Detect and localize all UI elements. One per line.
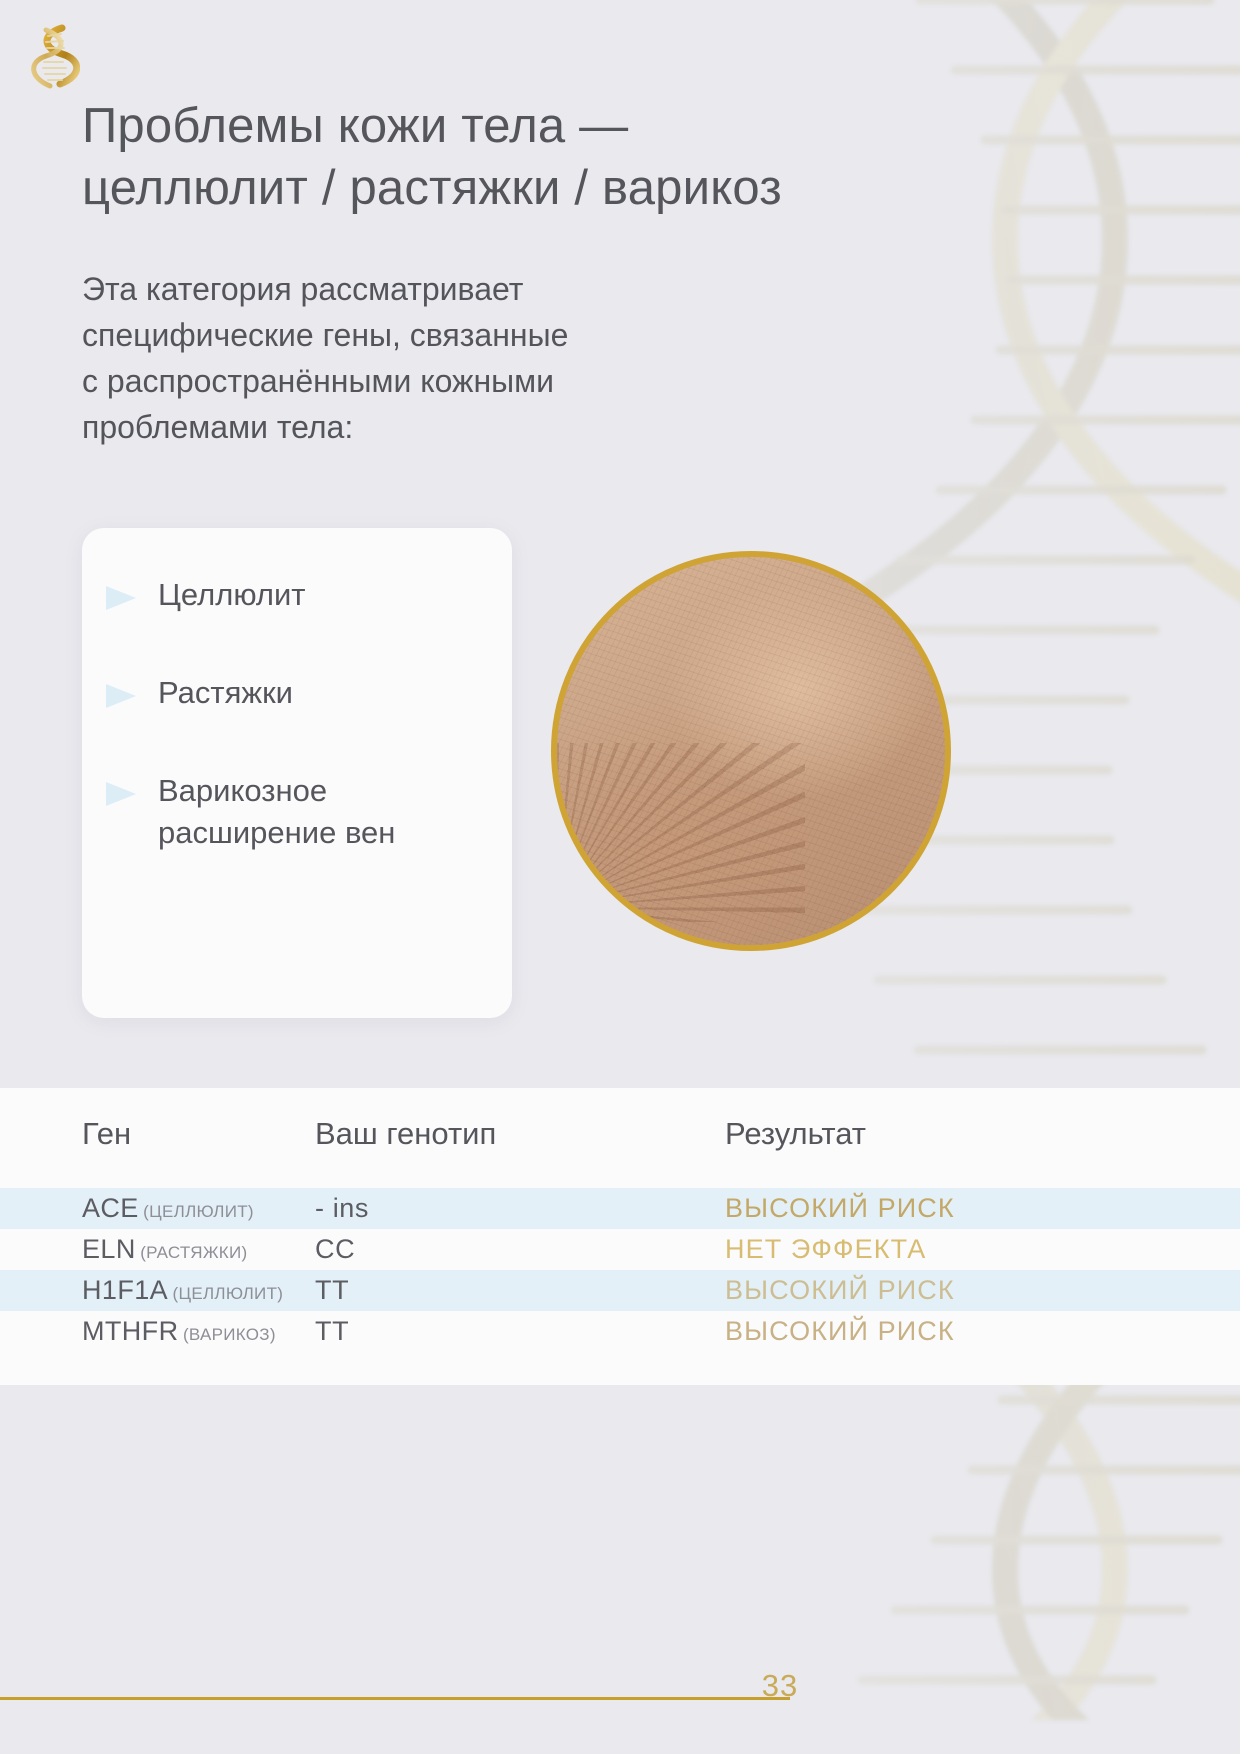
gene-note: (ВАРИКОЗ) xyxy=(183,1325,276,1344)
list-item: Варикозное расширение вен xyxy=(104,770,494,854)
cell-result: ВЫСОКИЙ РИСК xyxy=(725,1193,1240,1224)
gene-name: H1F1A xyxy=(82,1275,168,1305)
intro-line-2: специфические гены, связанные xyxy=(82,312,802,358)
page-number: 33 xyxy=(735,1668,825,1704)
table-row: ACE (ЦЕЛЛЮЛИТ) - ins ВЫСОКИЙ РИСК xyxy=(0,1188,1240,1229)
cell-result: ВЫСОКИЙ РИСК xyxy=(725,1316,1240,1347)
cell-gene: MTHFR (ВАРИКОЗ) xyxy=(0,1316,315,1347)
table-bottom-spacer xyxy=(0,1352,1240,1385)
cell-gene: H1F1A (ЦЕЛЛЮЛИТ) xyxy=(0,1275,315,1306)
cell-genotype: - ins xyxy=(315,1193,725,1224)
triangle-right-icon xyxy=(104,780,138,808)
gene-name: MTHFR xyxy=(82,1316,178,1346)
page-title-line-2: целлюлит / растяжки / варикоз xyxy=(82,158,962,220)
cell-result: НЕТ ЭФФЕКТА xyxy=(725,1234,1240,1265)
intro-line-3: с распространёнными кожными xyxy=(82,358,802,404)
table-top-spacer xyxy=(0,1180,1240,1188)
cell-result: ВЫСОКИЙ РИСК xyxy=(725,1275,1240,1306)
gene-note: (РАСТЯЖКИ) xyxy=(140,1243,247,1262)
report-page: Проблемы кожи тела — целлюлит / растяжки… xyxy=(0,0,1240,1754)
gene-results-table: Ген Ваш генотип Результат ACE (ЦЕЛЛЮЛИТ)… xyxy=(0,1088,1240,1385)
footer-divider xyxy=(0,1697,790,1700)
intro-paragraph: Эта категория рассматривает специфически… xyxy=(82,266,802,450)
cell-genotype: TT xyxy=(315,1316,725,1347)
list-item: Растяжки xyxy=(104,672,494,714)
triangle-right-icon xyxy=(104,584,138,612)
triangle-right-icon xyxy=(104,682,138,710)
table-row: MTHFR (ВАРИКОЗ) TT ВЫСОКИЙ РИСК xyxy=(0,1311,1240,1352)
photo-fold-layer xyxy=(551,743,805,921)
column-header-result: Результат xyxy=(725,1116,1240,1152)
cell-gene: ELN (РАСТЯЖКИ) xyxy=(0,1234,315,1265)
table-header-row: Ген Ваш генотип Результат xyxy=(0,1088,1240,1180)
list-item-label: Варикозное расширение вен xyxy=(158,770,494,854)
dna-helix-icon xyxy=(28,22,80,94)
list-item-label: Растяжки xyxy=(158,672,293,714)
column-header-gene: Ген xyxy=(0,1116,315,1152)
table-row: ELN (РАСТЯЖКИ) CC НЕТ ЭФФЕКТА xyxy=(0,1229,1240,1270)
conditions-card: Целлюлит Растяжки Варикозное расширение … xyxy=(82,528,512,1018)
page-title-line-1: Проблемы кожи тела — xyxy=(82,96,962,158)
page-title: Проблемы кожи тела — целлюлит / растяжки… xyxy=(82,96,962,219)
list-item-label: Целлюлит xyxy=(158,574,306,616)
conditions-list: Целлюлит Растяжки Варикозное расширение … xyxy=(104,574,494,855)
cell-genotype: TT xyxy=(315,1275,725,1306)
list-item: Целлюлит xyxy=(104,574,494,616)
gene-note: (ЦЕЛЛЮЛИТ) xyxy=(173,1284,284,1303)
gene-name: ELN xyxy=(82,1234,136,1264)
body-skin-closeup-photo xyxy=(551,551,951,951)
gene-note: (ЦЕЛЛЮЛИТ) xyxy=(143,1202,254,1221)
gene-name: ACE xyxy=(82,1193,139,1223)
column-header-genotype: Ваш генотип xyxy=(315,1116,725,1152)
intro-line-4: проблемами тела: xyxy=(82,404,802,450)
cell-genotype: CC xyxy=(315,1234,725,1265)
intro-line-1: Эта категория рассматривает xyxy=(82,266,802,312)
table-row: H1F1A (ЦЕЛЛЮЛИТ) TT ВЫСОКИЙ РИСК xyxy=(0,1270,1240,1311)
cell-gene: ACE (ЦЕЛЛЮЛИТ) xyxy=(0,1193,315,1224)
